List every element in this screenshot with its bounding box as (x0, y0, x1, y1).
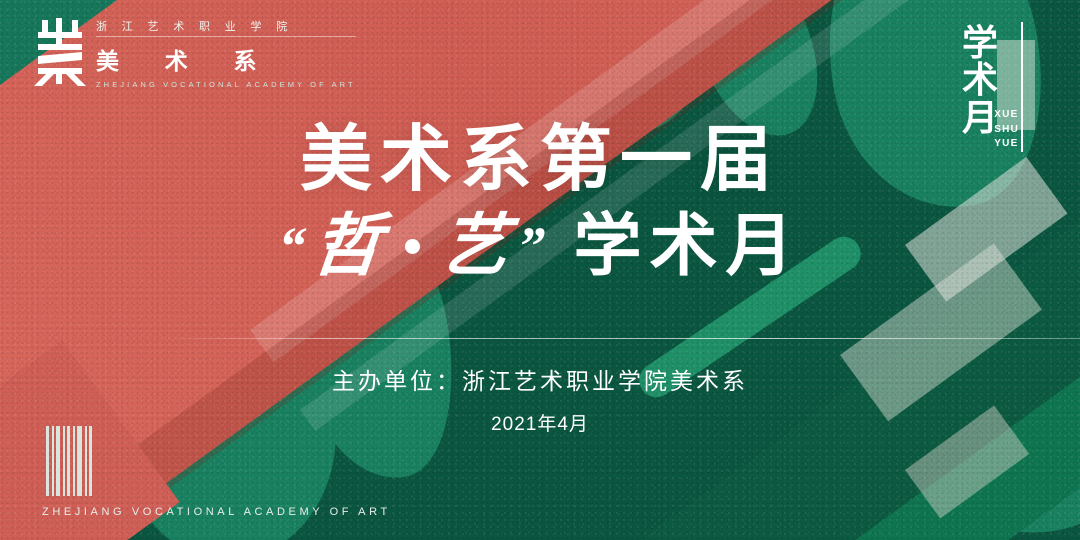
title-word-yi: 艺 (437, 212, 516, 280)
organizer-text: 主办单位：浙江艺术职业学院美术系 (0, 362, 1080, 396)
quote-open: “ (276, 219, 313, 273)
logo-department-cn: 美 术 系 (96, 42, 356, 76)
title-line-one: 美术系第一届 (0, 124, 1080, 196)
quote-close: ” (514, 219, 551, 273)
logo-text-block: 浙 江 艺 术 职 业 学 院 美 术 系 ZHEJIANG VOCATIONA… (96, 14, 356, 89)
logo-institution-cn: 浙 江 艺 术 职 业 学 院 (96, 18, 356, 37)
title-word-zhe: 哲 (310, 212, 389, 280)
horizontal-divider (160, 338, 1080, 339)
subtitle-block: 主办单位：浙江艺术职业学院美术系 2021年4月 (0, 362, 1080, 436)
logo-institution-en: ZHEJIANG VOCATIONAL ACADEMY OF ART (96, 80, 356, 89)
poster-canvas: 浙 江 艺 术 职 业 学 院 美 术 系 ZHEJIANG VOCATIONA… (0, 0, 1080, 540)
footer-academy-en: ZHEJIANG VOCATIONAL ACADEMY OF ART (42, 506, 391, 518)
badge-char-1: 学 (949, 24, 1011, 61)
main-title: 美术系第一届 “ 哲 艺 ” 学术月 (0, 124, 1080, 280)
meishu-seal-icon (34, 14, 86, 86)
title-word-xueshuyue: 学术月 (574, 212, 802, 280)
badge-char-2: 术 (949, 61, 1011, 98)
badge-pinyin-1: XUE (994, 108, 1019, 123)
barcode-bars-icon (46, 426, 391, 496)
title-line-two: “ 哲 艺 ” 学术月 (0, 212, 1080, 280)
dot-separator-icon (405, 239, 420, 254)
academy-logo: 浙 江 艺 术 职 业 学 院 美 术 系 ZHEJIANG VOCATIONA… (34, 14, 356, 89)
footer-lockup: ZHEJIANG VOCATIONAL ACADEMY OF ART (42, 426, 391, 518)
